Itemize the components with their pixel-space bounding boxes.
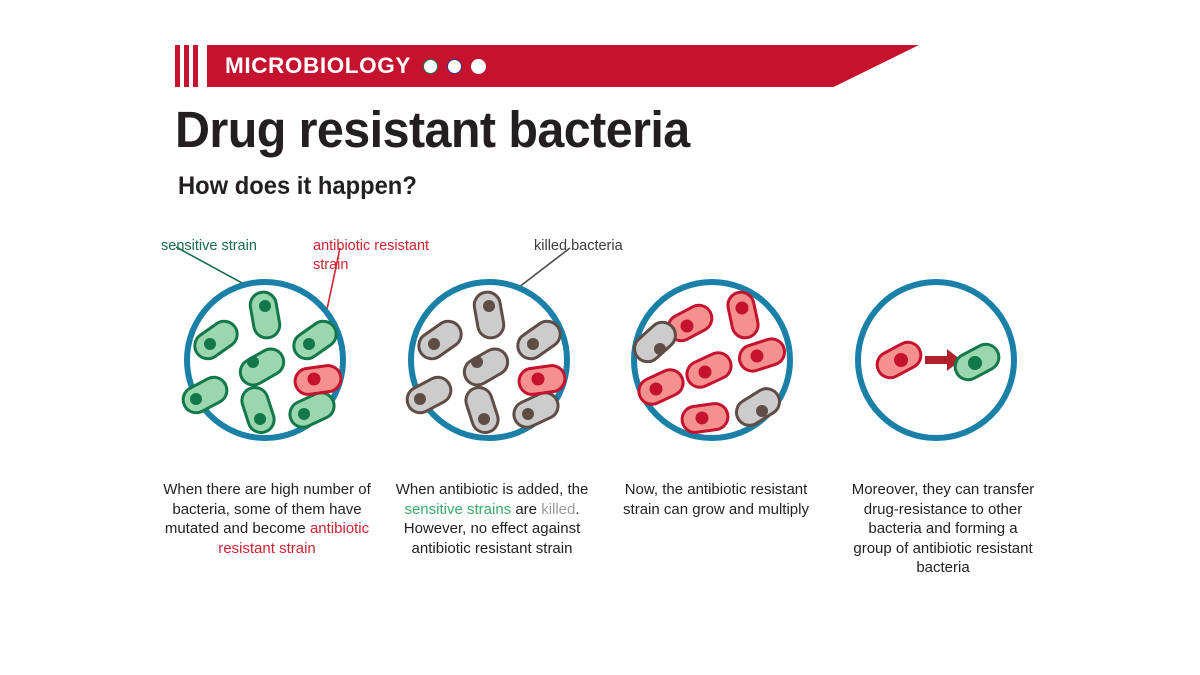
bacteria-diagram	[0, 215, 1200, 465]
caption-run-plain: are	[511, 501, 541, 518]
caption-run-plain: Now, the antibiotic resistant strain can…	[623, 481, 809, 518]
panel-3-caption: Now, the antibiotic resistant strain can…	[610, 480, 822, 519]
banner-accent-bar-1	[175, 45, 180, 87]
banner-body: MICROBIOLOGY	[207, 45, 919, 87]
panel-2-dish	[403, 282, 567, 438]
panel-4-dish	[858, 282, 1014, 438]
panel-3-dish	[629, 282, 790, 438]
panel-1-dish	[179, 282, 343, 438]
panel-2-caption: When antibiotic is added, the sensitive …	[386, 480, 598, 558]
page-subtitle: How does it happen?	[178, 172, 417, 201]
category-label: MICROBIOLOGY	[225, 53, 411, 79]
green-outline-dot-icon	[423, 59, 438, 74]
slide-canvas: MICROBIOLOGY Drug resistant bacteria How…	[0, 0, 1200, 675]
caption-run-gray: killed	[541, 501, 575, 518]
caption-run-plain: When antibiotic is added, the	[396, 481, 589, 498]
banner-accent-bar-2	[184, 45, 189, 87]
blue-outline-dot-icon	[447, 59, 462, 74]
caption-run-plain: Moreover, they can transfer drug-resista…	[852, 481, 1035, 576]
banner-accent-bar-3	[193, 45, 198, 87]
banner-dots	[423, 59, 486, 74]
plain-dot-icon	[471, 59, 486, 74]
panel-1-caption: When there are high number of bacteria, …	[162, 480, 372, 558]
caption-run-green: sensitive strains	[404, 501, 511, 518]
page-title: Drug resistant bacteria	[175, 103, 690, 157]
header-banner: MICROBIOLOGY	[175, 45, 919, 87]
panel-4-caption: Moreover, they can transfer drug-resista…	[848, 480, 1038, 578]
caption-row: When there are high number of bacteria, …	[0, 480, 1200, 620]
